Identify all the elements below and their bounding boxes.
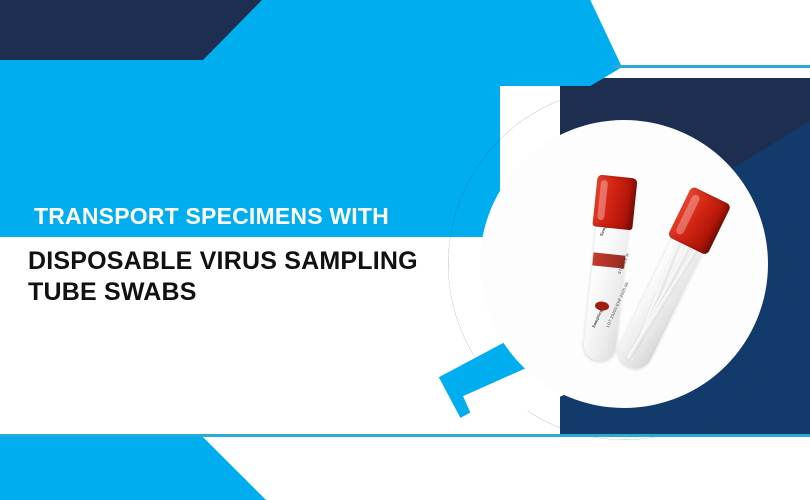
headline-line-2: DISPOSABLE VIRUS SAMPLING bbox=[0, 237, 450, 274]
tube-red-cap bbox=[592, 174, 637, 230]
headline-line-3: TUBE SWABS bbox=[0, 274, 450, 305]
cyan-rule-top bbox=[612, 65, 810, 68]
headline-line-1: TRANSPORT SPECIMENS WITH bbox=[0, 195, 450, 237]
cyan-rule-bottom bbox=[0, 434, 810, 437]
product-medallion: Sample Tube STERILE R LOT 20200 EXP 2025… bbox=[448, 88, 800, 440]
cyan-angled-corner-bottom-left bbox=[0, 437, 266, 500]
banner-canvas: Sample Tube STERILE R LOT 20200 EXP 2025… bbox=[0, 0, 810, 500]
headline-block: TRANSPORT SPECIMENS WITH DISPOSABLE VIRU… bbox=[0, 195, 450, 305]
product-photo: Sample Tube STERILE R LOT 20200 EXP 2025… bbox=[480, 120, 768, 408]
